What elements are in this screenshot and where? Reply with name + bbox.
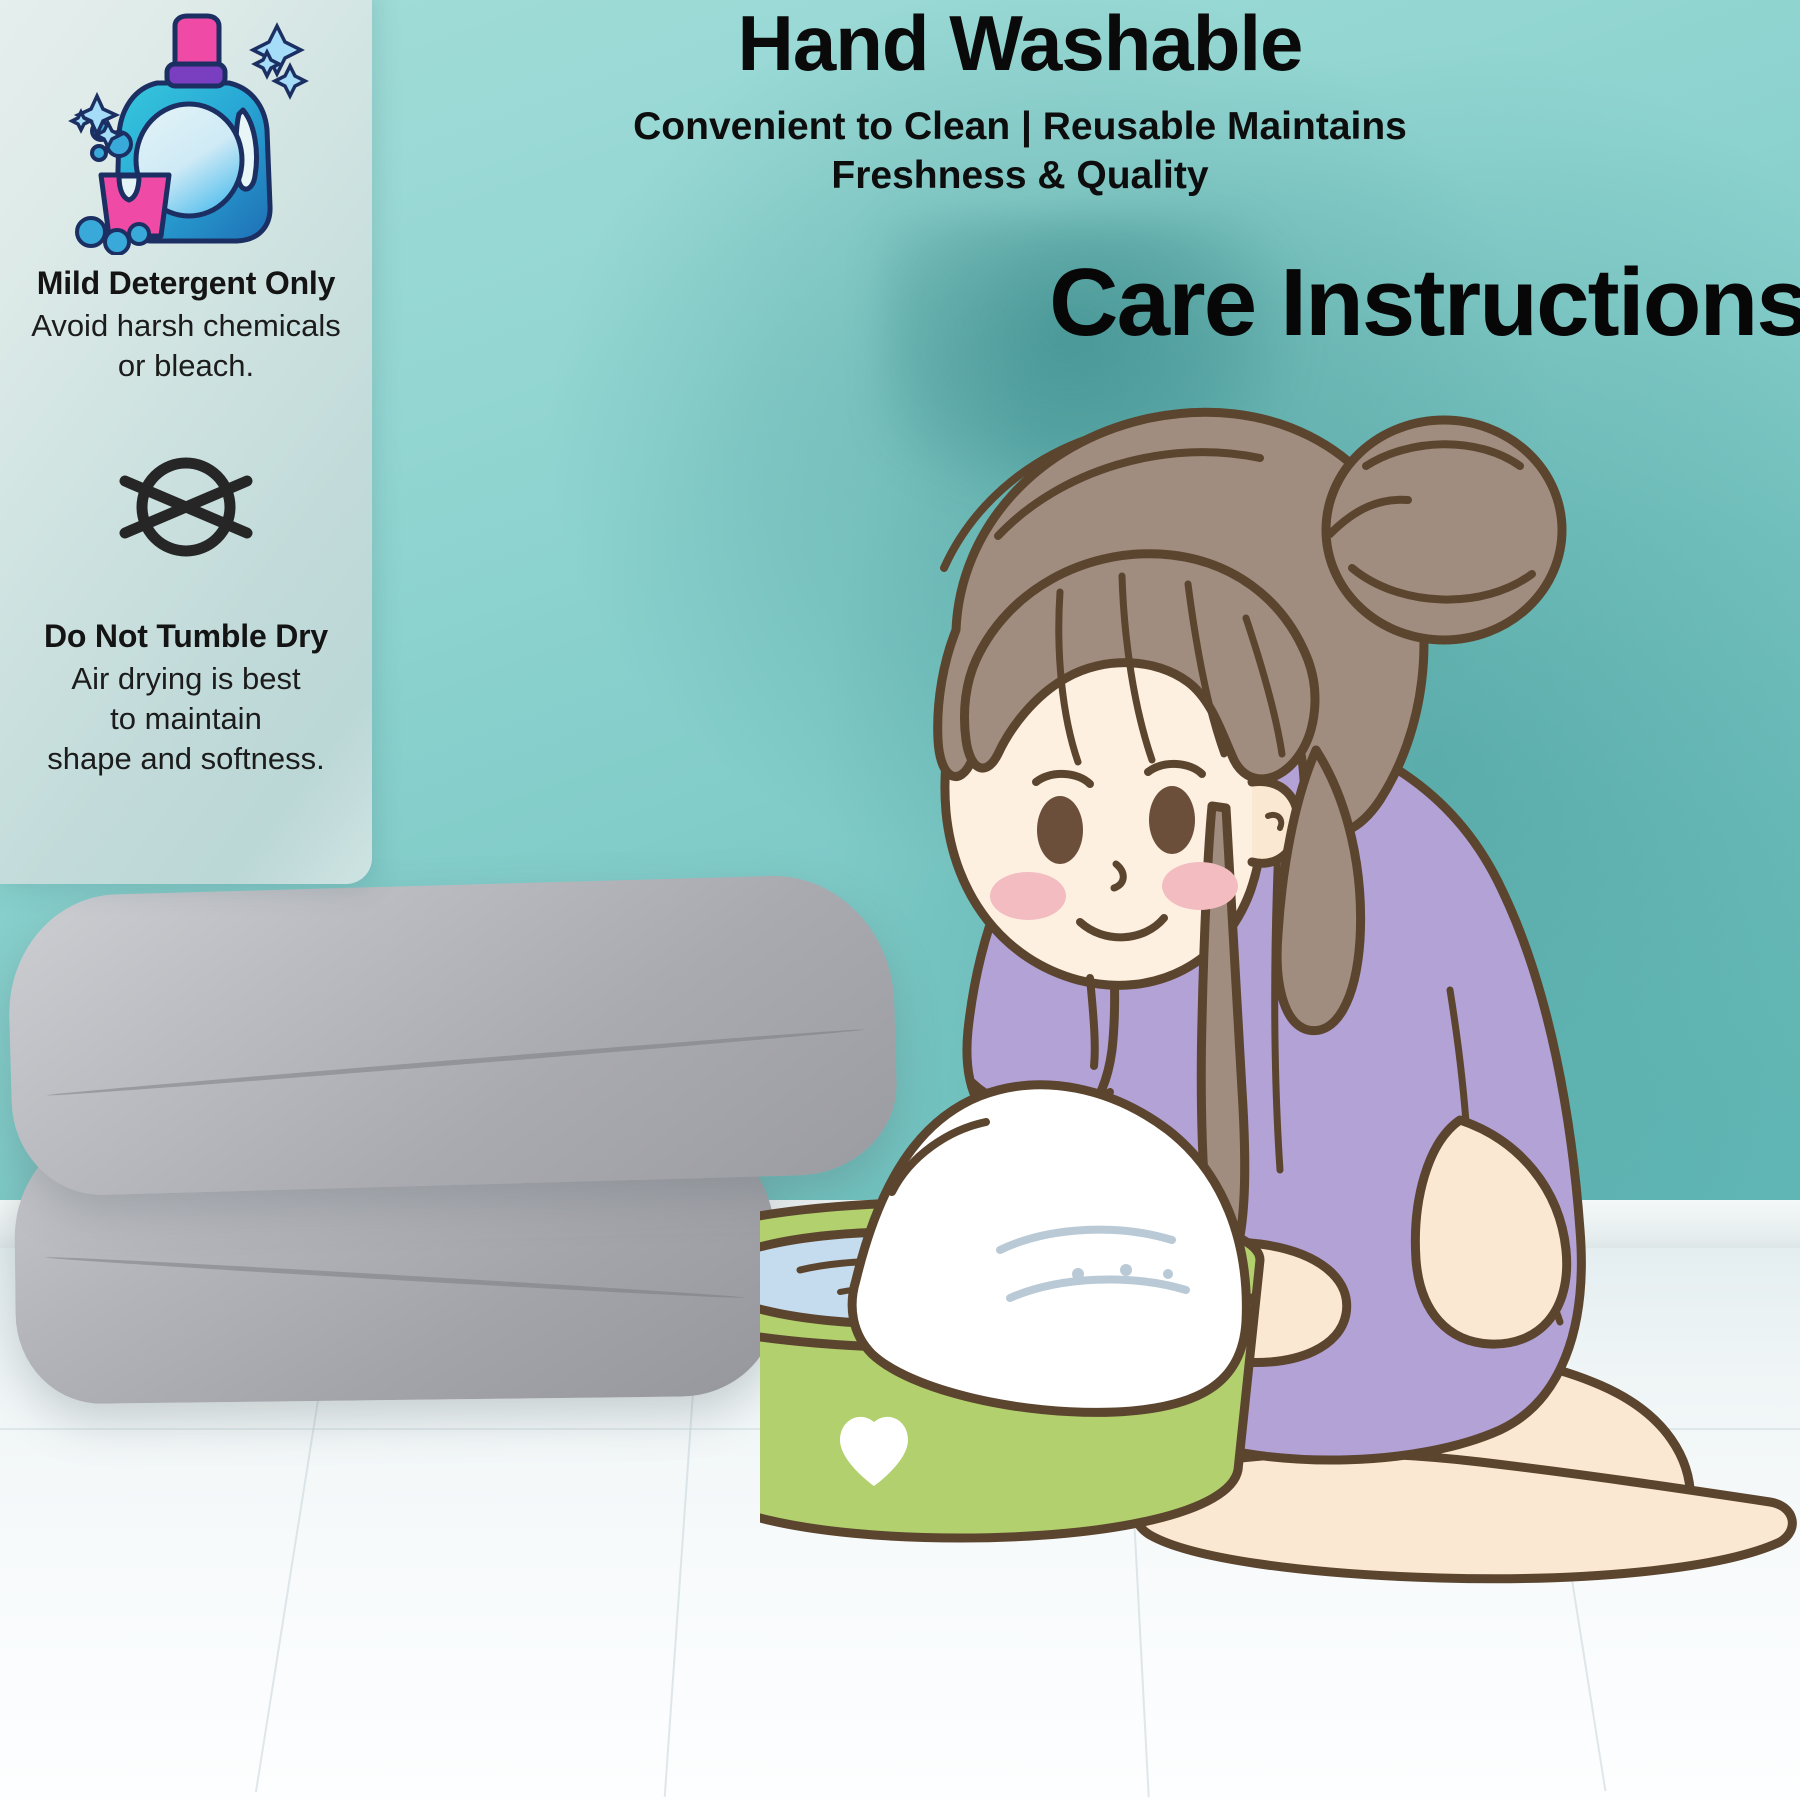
care-item-body-tumble-dry: Air drying is best to maintain shape and… bbox=[0, 659, 372, 780]
care-body-line: to maintain bbox=[110, 701, 262, 736]
page-subtitle: Convenient to Clean | Reusable Maintains… bbox=[420, 102, 1620, 202]
subtitle-line: Freshness & Quality bbox=[831, 154, 1208, 197]
care-instructions-panel: Mild Detergent Only Avoid harsh chemical… bbox=[0, 0, 372, 884]
care-body-line: shape and softness. bbox=[47, 741, 324, 776]
detergent-bottle-icon bbox=[61, 10, 311, 255]
care-body-line: Avoid harsh chemicals bbox=[31, 308, 341, 343]
care-body-line: Air drying is best bbox=[71, 661, 300, 696]
header-block: Hand Washable Convenient to Clean | Reus… bbox=[420, 4, 1620, 201]
no-tumble-dry-icon bbox=[101, 445, 271, 570]
subtitle-line: Convenient to Clean | Reusable Maintains bbox=[633, 105, 1407, 148]
care-item-title-detergent: Mild Detergent Only bbox=[0, 265, 372, 302]
care-body-line: or bleach. bbox=[118, 348, 254, 383]
page-title: Hand Washable bbox=[420, 4, 1620, 84]
care-item-title-tumble-dry: Do Not Tumble Dry bbox=[0, 618, 372, 655]
girl-washing-illustration bbox=[760, 330, 1800, 1660]
section-heading-care-instructions: Care Instructions bbox=[1049, 248, 1800, 358]
care-item-body-detergent: Avoid harsh chemicals or bleach. bbox=[0, 306, 372, 387]
